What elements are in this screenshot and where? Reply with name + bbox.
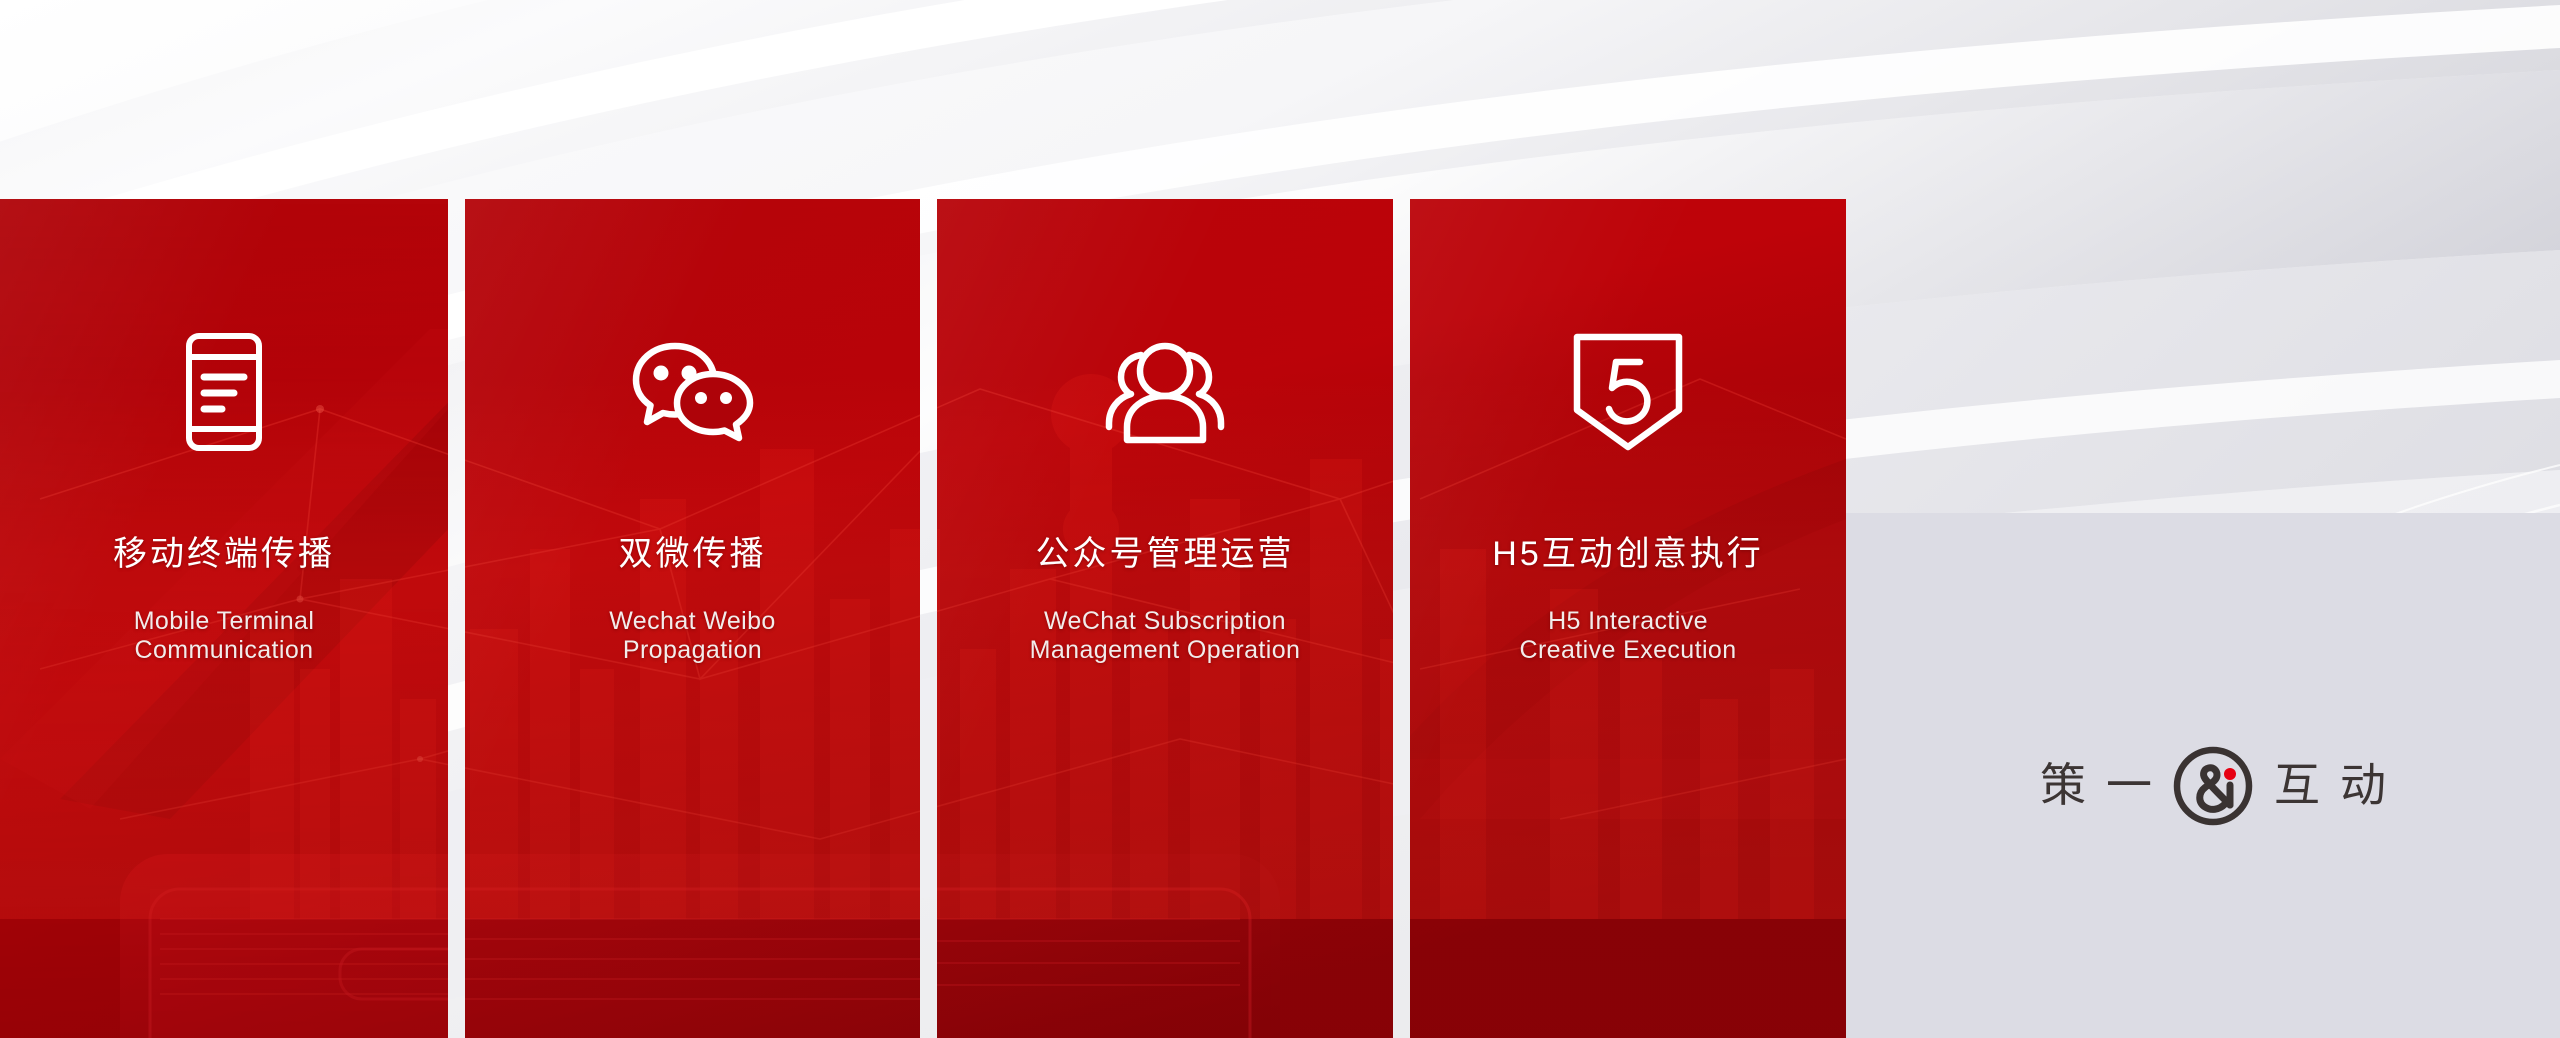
- service-panel-h5-interactive-creative-execution[interactable]: H5互动创意执行 H5 Interactive Creative Executi…: [1410, 199, 1846, 1038]
- service-title-cn: H5互动创意执行: [1492, 537, 1763, 571]
- logo-char-hu: 互: [2264, 763, 2330, 809]
- panel-divider-2: [920, 199, 937, 1038]
- panel-divider-1: [448, 199, 465, 1038]
- service-panel-mobile-terminal-communication[interactable]: 移动终端传播 Mobile Terminal Communication: [0, 199, 448, 1038]
- service-panel-strip: 移动终端传播 Mobile Terminal Communication: [0, 199, 1846, 1038]
- service-title-cn: 双微传播: [619, 537, 767, 571]
- badge-five-icon: [1572, 327, 1684, 457]
- service-title-en: H5 Interactive Creative Execution: [1519, 607, 1736, 665]
- ampersand-i-circle-icon: [2172, 745, 2254, 827]
- panel-divider-3: [1393, 199, 1410, 1038]
- service-panel-wechat-weibo-propagation[interactable]: 双微传播 Wechat Weibo Propagation: [465, 199, 920, 1038]
- wechat-bubbles-icon: [631, 327, 755, 457]
- brand-logo[interactable]: 策 一 互 动: [2030, 745, 2396, 827]
- service-title-en: WeChat Subscription Management Operation: [1030, 607, 1301, 665]
- logo-char-dong: 动: [2330, 763, 2396, 809]
- service-panel-wechat-subscription-management[interactable]: 公众号管理运营 WeChat Subscription Management O…: [937, 199, 1393, 1038]
- service-title-cn: 公众号管理运营: [1036, 537, 1295, 571]
- service-title-cn: 移动终端传播: [113, 537, 335, 571]
- logo-char-ce: 策: [2030, 763, 2096, 809]
- people-group-icon: [1100, 327, 1230, 457]
- logo-char-yi: 一: [2096, 763, 2162, 809]
- service-title-en: Wechat Weibo Propagation: [609, 607, 775, 665]
- mobile-device-icon: [186, 327, 262, 457]
- service-title-en: Mobile Terminal Communication: [134, 607, 315, 665]
